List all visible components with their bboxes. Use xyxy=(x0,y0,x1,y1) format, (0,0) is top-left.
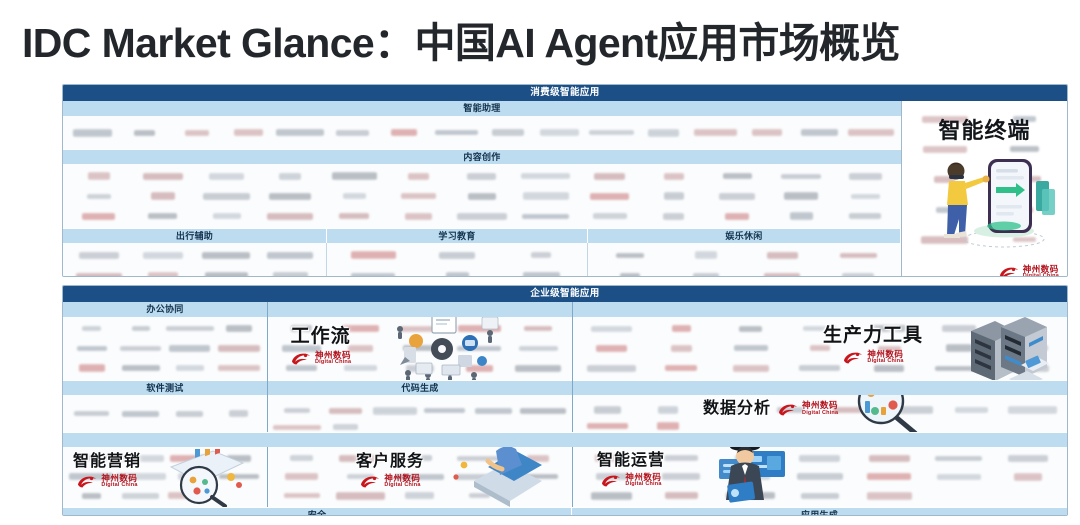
vendor-logo xyxy=(176,365,204,371)
vendor-logo xyxy=(752,129,782,136)
vendor-logo xyxy=(403,346,437,352)
vendor-logo xyxy=(218,365,260,371)
category-bar-office-collab[interactable]: 办公协同 xyxy=(63,302,267,317)
vendor-logo xyxy=(134,130,155,136)
vendor-logo xyxy=(87,194,111,199)
vendor-logo xyxy=(406,365,434,372)
vendor-logo xyxy=(178,474,201,481)
vendor-logo xyxy=(467,173,496,180)
vendor-logo xyxy=(522,214,569,219)
vendor-logo xyxy=(732,474,770,481)
vendor-logo xyxy=(664,173,684,180)
vendor-logo xyxy=(74,411,109,416)
vendor-logo xyxy=(936,207,954,213)
vendor-logo xyxy=(519,346,558,351)
vendor-logo xyxy=(458,326,501,333)
logo-row-marketing: 智能营销 神州数码 Digital China xyxy=(63,447,267,507)
vendor-logo xyxy=(455,474,504,480)
vendor-logo xyxy=(143,252,183,259)
vendor-logo xyxy=(596,474,628,481)
category-bar-software-test[interactable]: 软件测试 xyxy=(63,380,267,395)
vendor-logo xyxy=(116,474,166,481)
category-bar-spacer-col2 xyxy=(268,302,572,317)
vendor-logo xyxy=(424,408,465,413)
enterprise-column-1-marketing: 智能营销 神州数码 Digital China xyxy=(63,447,267,507)
enterprise-column-1: 办公协同 软件测试 xyxy=(63,302,267,432)
vendor-logo xyxy=(439,252,475,259)
logo-row-productivity: 生产力工具 神州数码 Digital China xyxy=(573,317,1067,380)
slide-canvas: IDC Market Glance：中国AI Agent应用市场概览 消费级智能… xyxy=(0,0,1080,525)
vendor-logo xyxy=(777,407,803,413)
vendor-logo xyxy=(671,345,692,352)
vendor-logo xyxy=(205,272,248,277)
vendor-logo xyxy=(77,346,107,351)
vendor-logo xyxy=(521,173,570,179)
vendor-logo xyxy=(594,173,625,180)
category-bar-spacer-band3 xyxy=(63,432,1067,447)
vendor-logo xyxy=(595,455,628,463)
vendor-logo xyxy=(329,408,362,414)
vendor-logo xyxy=(79,364,105,372)
vendor-logo xyxy=(408,173,429,180)
vendor-logo xyxy=(391,129,417,136)
vendor-logo xyxy=(711,407,747,413)
logo-row-travel-edu-fun xyxy=(63,243,901,277)
category-bar-spacer-col3 xyxy=(573,302,1067,317)
vendor-logo xyxy=(227,455,251,462)
vendor-logo xyxy=(801,493,839,499)
vendor-logo xyxy=(290,455,313,461)
vendor-logo xyxy=(336,130,369,136)
logo-row-software-test xyxy=(63,395,267,432)
vendor-logo xyxy=(373,407,417,415)
vendor-logo xyxy=(333,424,358,430)
vendor-logo xyxy=(921,236,968,244)
vendor-logo xyxy=(842,273,874,277)
vendor-logo xyxy=(218,345,260,352)
vendor-logo xyxy=(407,455,432,461)
enterprise-columns-band3: 智能营销 神州数码 Digital China xyxy=(63,447,1067,507)
vendor-logo xyxy=(867,474,911,481)
vendor-logo xyxy=(170,455,210,462)
vendor-logo xyxy=(282,345,321,352)
vendor-logo xyxy=(343,193,366,199)
consumer-category-grid: 智能助理 内容创作 出行辅助 学习教育 娱乐休闲 xyxy=(63,101,901,277)
vendor-logo xyxy=(151,192,175,200)
vendor-logo xyxy=(890,406,933,414)
vendor-logo xyxy=(120,346,161,351)
vendor-logo xyxy=(351,251,396,259)
vendor-logo xyxy=(810,346,830,352)
logo-row-data-analysis: 数据分析 神州数码 Digital China xyxy=(573,395,1067,432)
vendor-logo xyxy=(616,253,644,258)
vendor-logo xyxy=(269,193,311,200)
vendor-logo xyxy=(279,173,301,180)
vendor-logo xyxy=(229,410,248,417)
category-bar-education[interactable]: 学习教育 xyxy=(326,229,587,243)
panel-smart-terminal[interactable]: 智能终端 xyxy=(901,101,1067,277)
enterprise-column-2-customer-service: 客户服务 神州数码 Digital China xyxy=(267,447,572,507)
vendor-logo xyxy=(594,406,621,414)
vendor-logo xyxy=(873,326,906,333)
vendor-logo xyxy=(267,252,313,259)
enterprise-column-3: 生产力工具 神州数码 Digital China xyxy=(572,302,1067,432)
vendor-logo xyxy=(148,272,178,277)
vendor-logo xyxy=(849,213,881,219)
enterprise-column-2: 工作流 神州数码 Digital China xyxy=(267,302,572,432)
vendor-logo xyxy=(531,252,551,258)
vendor-logo xyxy=(726,492,775,499)
vendor-logo xyxy=(132,326,150,331)
vendor-logo xyxy=(339,455,382,462)
vendor-logo xyxy=(185,130,209,136)
vendor-logo xyxy=(695,251,717,259)
vendor-logo xyxy=(591,326,632,332)
vendor-logo xyxy=(400,326,440,332)
vendor-logo xyxy=(347,475,374,480)
page-title: IDC Market Glance：中国AI Agent应用市场概览 xyxy=(22,18,1068,68)
vendor-logo xyxy=(284,408,310,413)
vendor-logo xyxy=(285,474,318,481)
vendor-logo xyxy=(657,422,679,430)
vendor-logo xyxy=(663,213,684,220)
vendor-logo xyxy=(203,193,250,200)
logo-row-code-gen xyxy=(268,395,572,432)
vendor-logo xyxy=(867,492,912,500)
vendor-logo xyxy=(1014,473,1042,481)
vendor-logo xyxy=(446,272,469,277)
vendor-logo xyxy=(273,425,321,430)
vendor-logo xyxy=(848,129,894,136)
vendor-logo xyxy=(658,406,678,414)
vendor-logo xyxy=(764,273,800,277)
category-bar-row-travel-edu-fun: 出行辅助 学习教育 娱乐休闲 xyxy=(63,228,901,243)
vendor-logo xyxy=(665,365,697,371)
vendor-logo xyxy=(935,456,982,461)
vendor-logo xyxy=(840,253,877,258)
category-bar-spacer-col3-b xyxy=(573,380,1067,395)
vendor-logo xyxy=(468,193,496,200)
vendor-logo xyxy=(122,493,159,499)
vendor-logo xyxy=(719,193,755,200)
vendor-logo xyxy=(923,146,967,153)
vendor-logo xyxy=(767,252,798,259)
vendor-logo xyxy=(435,130,478,135)
vendor-logo xyxy=(213,213,241,219)
vendor-logo xyxy=(739,326,762,332)
vendor-logo xyxy=(457,346,501,351)
vendor-logo xyxy=(801,129,838,136)
vendor-logo xyxy=(168,492,212,499)
vendor-logo xyxy=(1008,365,1049,372)
category-bar-content[interactable]: 内容创作 xyxy=(63,149,901,164)
vendor-logo xyxy=(694,129,737,136)
vendor-logo xyxy=(226,326,252,333)
vendor-logo xyxy=(267,213,313,220)
vendor-logo xyxy=(348,345,373,352)
vendor-logo xyxy=(540,129,579,136)
vendor-logo xyxy=(122,365,160,371)
vendor-logo xyxy=(527,455,549,462)
vendor-logo xyxy=(878,346,901,351)
vendor-logo xyxy=(336,492,385,500)
vendor-logo xyxy=(176,411,203,417)
vendor-logo xyxy=(672,326,691,333)
logo-row-operations: 智能运营 神州数码 Digital China xyxy=(573,447,1067,507)
logo-cell-travel xyxy=(63,243,326,277)
vendor-logo xyxy=(662,474,700,481)
category-bar-travel[interactable]: 出行辅助 xyxy=(63,229,326,243)
vendor-logo xyxy=(492,129,524,136)
vendor-logo xyxy=(1015,207,1033,213)
category-bar-row-bottom: 安全 应用生成 xyxy=(63,507,1067,516)
vendor-logo xyxy=(803,326,837,331)
vendor-logo xyxy=(166,326,214,331)
section-consumer: 消费级智能应用 智能助理 内容创作 出行辅助 xyxy=(62,84,1068,277)
vendor-logo xyxy=(589,130,634,135)
logo-row-customer-service: 客户服务 神州数码 Digital China xyxy=(268,447,572,507)
enterprise-column-3-operations: 智能运营 神州数码 Digital China xyxy=(572,447,1067,507)
vendor-logo xyxy=(405,213,432,220)
vendor-logo xyxy=(1008,455,1048,462)
category-bar-assistant[interactable]: 智能助理 xyxy=(63,101,901,116)
vendor-logo xyxy=(781,174,821,179)
vendor-logo xyxy=(784,192,818,200)
vendor-logo xyxy=(797,474,843,481)
vendor-logo xyxy=(75,455,107,461)
logo-cell-education xyxy=(326,243,587,277)
enterprise-columns: 办公协同 软件测试 工作流 xyxy=(63,302,1067,432)
section-header-enterprise: 企业级智能应用 xyxy=(63,286,1067,302)
vendor-logo xyxy=(286,365,317,371)
category-bar-code-gen[interactable]: 代码生成 xyxy=(268,380,572,395)
vendor-logo xyxy=(122,411,159,417)
vendor-logo xyxy=(475,408,512,414)
vendor-logo xyxy=(591,492,632,500)
vendor-logo xyxy=(590,193,629,200)
vendor-logo xyxy=(284,493,320,498)
vendor-logo xyxy=(524,326,552,331)
vendor-logo xyxy=(82,326,101,331)
vendor-logo xyxy=(1008,406,1057,414)
vendor-logo xyxy=(209,173,244,180)
vendor-logo xyxy=(405,492,434,499)
vendor-logo xyxy=(648,129,679,137)
vendor-logo xyxy=(276,129,324,136)
vendor-logo xyxy=(874,365,904,372)
vendor-logo xyxy=(523,192,569,200)
vendor-logo xyxy=(733,365,769,372)
vendor-logo xyxy=(117,455,164,462)
vendor-logo xyxy=(799,455,840,462)
vendor-logo xyxy=(401,193,436,199)
vendor-logo xyxy=(342,326,379,333)
vendor-logo xyxy=(593,213,627,219)
vendor-logo xyxy=(469,493,490,498)
vendor-logo xyxy=(202,252,250,259)
vendor-logo xyxy=(523,272,560,277)
vendor-logo xyxy=(935,366,982,371)
vendor-logo xyxy=(665,492,698,499)
consumer-body: 智能助理 内容创作 出行辅助 学习教育 娱乐休闲 xyxy=(63,101,1067,277)
vendor-logo xyxy=(833,407,868,413)
vendor-logo xyxy=(82,493,101,499)
section-enterprise: 企业级智能应用 办公协同 软件测试 xyxy=(62,285,1068,516)
vendor-logo xyxy=(73,129,112,137)
vendor-logo xyxy=(934,176,955,183)
vendor-logo xyxy=(849,173,882,180)
vendor-logo xyxy=(1010,146,1039,152)
vendor-logo xyxy=(143,173,183,180)
vendor-logo xyxy=(332,172,377,180)
vendor-logo xyxy=(734,346,768,352)
category-bar-security[interactable]: 安全 xyxy=(63,508,571,516)
vendor-logo xyxy=(291,326,312,333)
vendor-logo xyxy=(457,456,502,461)
vendor-logo xyxy=(76,273,122,277)
vendor-logo xyxy=(790,212,813,220)
vendor-logo xyxy=(344,365,377,371)
vendor-logo xyxy=(596,345,627,352)
vendor-logo xyxy=(395,474,444,480)
vendor-logo xyxy=(1008,346,1048,352)
vendor-logo xyxy=(69,474,113,481)
vendor-logo xyxy=(515,365,561,372)
logo-row-office-collab xyxy=(63,317,267,380)
vendor-logo xyxy=(693,273,719,277)
logo-cell-entertainment xyxy=(587,243,900,277)
vendor-logo xyxy=(1019,326,1038,331)
vendor-logo xyxy=(851,194,880,199)
vendor-logo xyxy=(735,455,767,461)
vendor-logo xyxy=(955,407,988,413)
vendor-logo xyxy=(466,365,493,372)
vendor-logo xyxy=(169,345,210,352)
category-bar-app-gen[interactable]: 应用生成 xyxy=(571,508,1067,516)
vendor-logo xyxy=(339,213,369,219)
vendor-logo xyxy=(799,365,840,371)
vendor-logo xyxy=(219,475,259,480)
vendor-logo xyxy=(725,213,749,220)
panel-title-smart-terminal: 智能终端 xyxy=(902,113,1067,145)
vendor-logo xyxy=(457,213,507,220)
vendor-logo xyxy=(869,455,910,462)
market-glance-board: 消费级智能应用 智能助理 内容创作 出行辅助 xyxy=(62,84,1068,516)
logo-row-workflow: 工作流 神州数码 Digital China xyxy=(268,317,572,380)
vendor-logo xyxy=(82,213,115,220)
vendor-logo xyxy=(946,345,972,353)
vendor-logo xyxy=(520,408,566,414)
vendor-logo xyxy=(942,326,976,333)
logo-row-content xyxy=(63,164,901,228)
vendor-logo xyxy=(234,129,263,136)
vendor-logo xyxy=(88,172,110,180)
vendor-logo xyxy=(148,213,177,219)
vendor-logo xyxy=(620,273,640,277)
vendor-logo xyxy=(664,455,698,461)
vendor-logo xyxy=(273,272,308,277)
vendor-logo xyxy=(664,192,684,200)
vendor-logo xyxy=(587,423,628,429)
vendor-logo xyxy=(937,474,981,480)
vendor-logo xyxy=(1007,177,1041,183)
vendor-logo xyxy=(587,365,636,372)
vendor-logo xyxy=(351,273,395,277)
logo-row-assistant xyxy=(63,116,901,149)
category-bar-entertainment[interactable]: 娱乐休闲 xyxy=(587,229,900,243)
vendor-logo xyxy=(1013,237,1036,242)
vendor-logo xyxy=(723,173,752,179)
vendor-logo xyxy=(79,252,119,259)
section-header-consumer: 消费级智能应用 xyxy=(63,85,1067,101)
vendor-logo xyxy=(518,475,558,480)
